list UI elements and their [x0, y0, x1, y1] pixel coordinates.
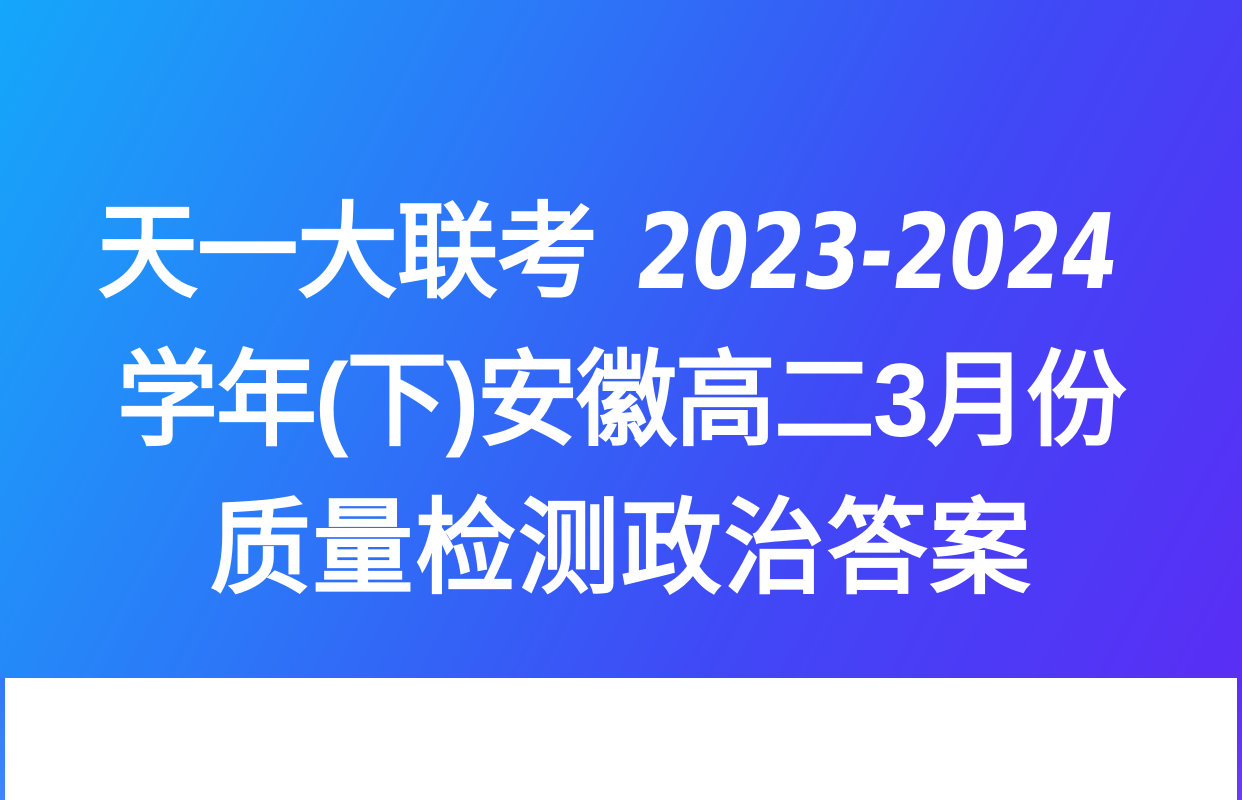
poster-title: 天一大联考2023-2024 学年(下)安徽高二3月份 质量检测政治答案	[60, 178, 1182, 623]
title-line-1-years: 2023-2024	[615, 178, 1126, 326]
title-line-3: 质量检测政治答案	[77, 475, 1165, 623]
title-line-2: 学年(下)安徽高二3月份	[77, 327, 1165, 475]
title-line-1-cjk: 天一大联考	[97, 195, 597, 311]
poster-canvas: 天一大联考2023-2024 学年(下)安徽高二3月份 质量检测政治答案 答案解…	[0, 0, 1242, 800]
watermark-text: 答案解析网APP	[435, 704, 807, 760]
title-line-1: 天一大联考2023-2024	[77, 178, 1165, 327]
watermark: 答案解析网APP	[0, 704, 1242, 760]
